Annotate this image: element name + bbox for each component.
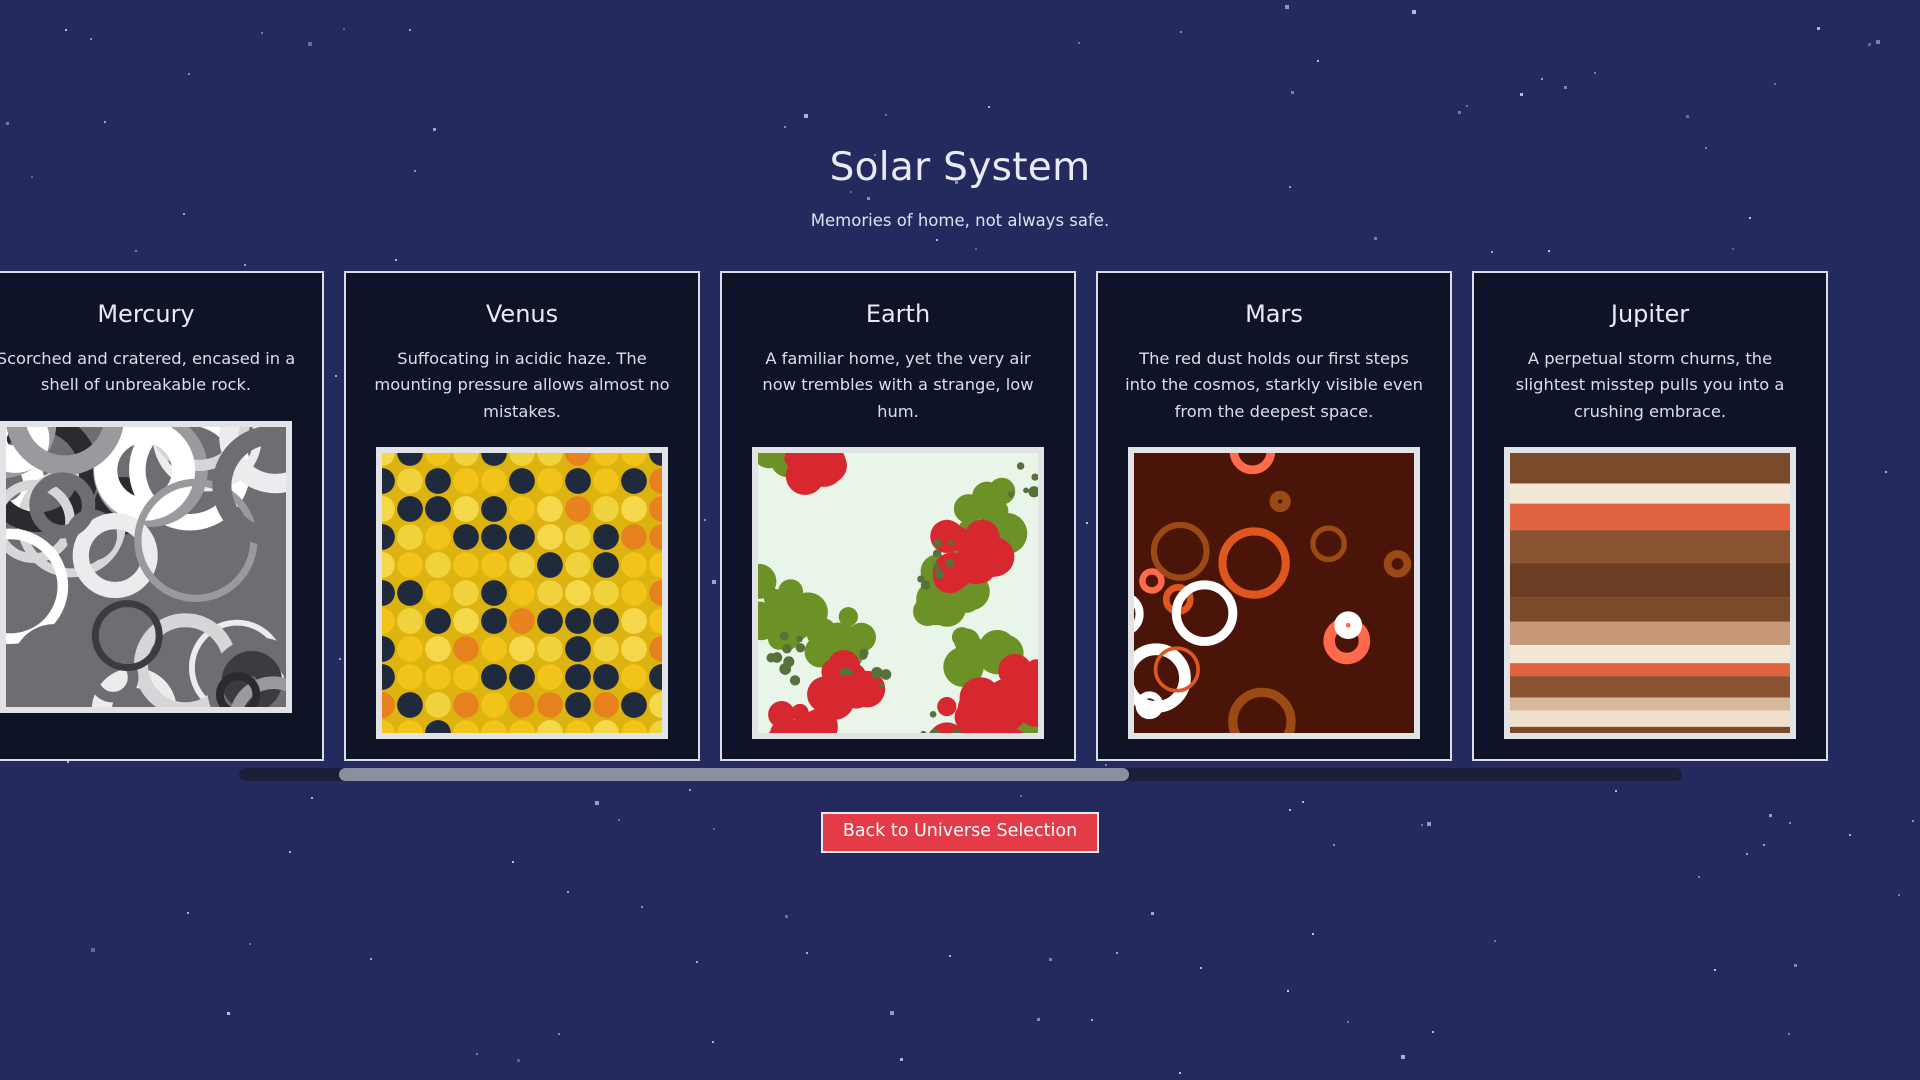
planet-name: Mars bbox=[1245, 301, 1303, 327]
scrollbar-row bbox=[0, 768, 1920, 781]
page-title: Solar System bbox=[811, 148, 1109, 187]
carousel-scrollbar-track[interactable] bbox=[239, 768, 1682, 781]
planet-texture-earth bbox=[752, 447, 1044, 739]
solar-system-page: Solar System Memories of home, not alway… bbox=[0, 0, 1920, 1080]
page-subtitle: Memories of home, not always safe. bbox=[811, 187, 1109, 230]
planet-card-mars[interactable]: MarsThe red dust holds our first steps i… bbox=[1096, 271, 1452, 761]
planet-name: Venus bbox=[486, 301, 558, 327]
planet-card-jupiter[interactable]: JupiterA perpetual storm churns, the sli… bbox=[1472, 271, 1828, 761]
carousel-scrollbar-thumb[interactable] bbox=[339, 768, 1129, 781]
planet-description: Suffocating in acidic haze. The mounting… bbox=[372, 346, 672, 425]
planet-name: Jupiter bbox=[1611, 301, 1689, 327]
planet-texture-jupiter bbox=[1504, 447, 1796, 739]
planet-card-mercury[interactable]: MercuryScorched and cratered, encased in… bbox=[0, 271, 324, 761]
planet-name: Earth bbox=[866, 301, 930, 327]
planet-texture-venus bbox=[376, 447, 668, 739]
planet-description: The red dust holds our first steps into … bbox=[1124, 346, 1424, 425]
back-to-universe-selection-button[interactable]: Back to Universe Selection bbox=[821, 812, 1099, 854]
planet-name: Mercury bbox=[97, 301, 194, 327]
planet-description: A perpetual storm churns, the slightest … bbox=[1500, 346, 1800, 425]
planet-carousel-track[interactable]: MercuryScorched and cratered, encased in… bbox=[0, 271, 1920, 761]
page-header: Solar System Memories of home, not alway… bbox=[811, 148, 1109, 230]
planet-description: A familiar home, yet the very air now tr… bbox=[748, 346, 1048, 425]
planet-description: Scorched and cratered, encased in a shel… bbox=[0, 346, 296, 399]
planet-card-venus[interactable]: VenusSuffocating in acidic haze. The mou… bbox=[344, 271, 700, 761]
planet-texture-mercury bbox=[0, 421, 292, 713]
planet-carousel-viewport[interactable]: MercuryScorched and cratered, encased in… bbox=[0, 268, 1920, 762]
page-footer: Back to Universe Selection bbox=[821, 812, 1099, 854]
planet-texture-mars bbox=[1128, 447, 1420, 739]
planet-card-earth[interactable]: EarthA familiar home, yet the very air n… bbox=[720, 271, 1076, 761]
